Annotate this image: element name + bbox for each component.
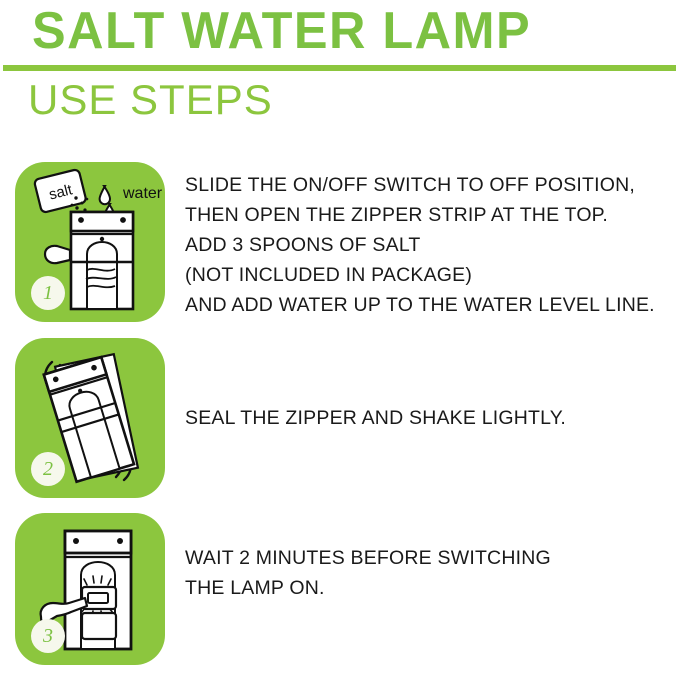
step-3-line-1: WAIT 2 MINUTES BEFORE SWITCHING <box>185 543 551 573</box>
step-row-2: 2 SEAL THE ZIPPER AND SHAKE LIGHTLY. <box>0 338 679 498</box>
step-3-illustration-press-switch: 3 <box>15 513 165 665</box>
title-divider <box>3 65 676 71</box>
step-1-line-4: (NOT INCLUDED IN PACKAGE) <box>185 260 655 290</box>
step-3-text: WAIT 2 MINUTES BEFORE SWITCHING THE LAMP… <box>185 543 551 603</box>
step-2-text: SEAL THE ZIPPER AND SHAKE LIGHTLY. <box>185 403 566 433</box>
step-1-line-1: SLIDE THE ON/OFF SWITCH TO OFF POSITION, <box>185 170 655 200</box>
page-subtitle: USE STEPS <box>28 76 273 124</box>
step-row-1: salt water <box>0 162 679 322</box>
step-1-line-2: THEN OPEN THE ZIPPER STRIP AT THE TOP. <box>185 200 655 230</box>
pointing-hand-icon <box>45 246 70 263</box>
step-2-illustration-shake-lamp: 2 <box>15 338 165 498</box>
step-1-illustration-salt-and-water: salt water <box>15 162 165 322</box>
step-2-line-1: SEAL THE ZIPPER AND SHAKE LIGHTLY. <box>185 403 566 433</box>
step-1-line-3: ADD 3 SPOONS OF SALT <box>185 230 655 260</box>
salt-packet-icon: salt <box>34 169 87 213</box>
step-badge-2: 2 <box>31 452 65 486</box>
step-badge-1: 1 <box>31 276 65 310</box>
step-3-line-2: THE LAMP ON. <box>185 573 551 603</box>
step-1-text: SLIDE THE ON/OFF SWITCH TO OFF POSITION,… <box>185 170 655 320</box>
page-title: SALT WATER LAMP <box>32 2 531 60</box>
lamp-bag-icon <box>71 212 133 309</box>
step-1-line-5: AND ADD WATER UP TO THE WATER LEVEL LINE… <box>185 290 655 320</box>
step-row-3: 3 WAIT 2 MINUTES BEFORE SWITCHING THE LA… <box>0 513 679 665</box>
water-label: water <box>122 185 163 202</box>
step-badge-3: 3 <box>31 619 65 653</box>
